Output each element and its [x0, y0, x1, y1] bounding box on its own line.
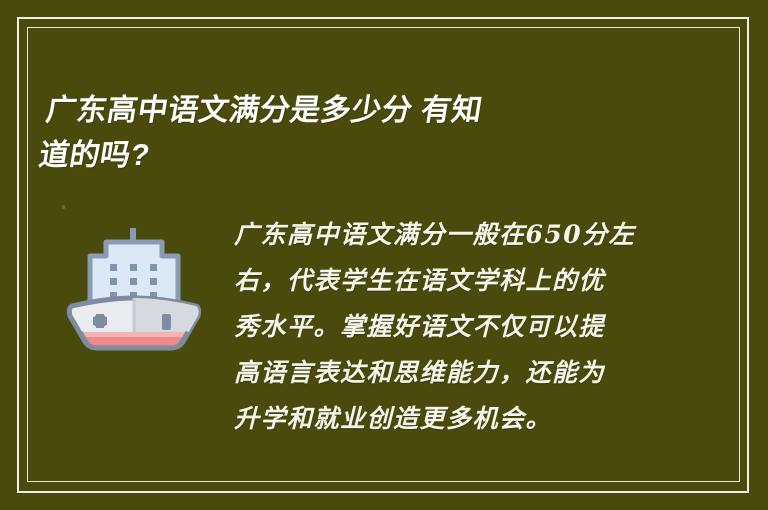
poster-canvas: 广东高中语文满分是多少分 有知 道的吗? — [0, 0, 768, 510]
body-line-4: 高语言表达和思维能力，还能为 — [234, 350, 704, 396]
body-line-1: 广东高中语文满分一般在650分左 — [234, 212, 704, 258]
page-title: 广东高中语文满分是多少分 有知 道的吗? — [36, 88, 690, 178]
body-paragraph: 广东高中语文满分一般在650分左 右，代表学生在语文学科上的优 秀水平。掌握好语… — [234, 212, 704, 442]
cargo-ship-icon — [62, 222, 206, 356]
body-line-2: 右，代表学生在语文学科上的优 — [234, 258, 704, 304]
page-title-line-2: 道的吗? — [36, 133, 683, 178]
body-line-5: 升学和就业创造更多机会。 — [234, 396, 704, 442]
body-line-3: 秀水平。掌握好语文不仅可以提 — [234, 304, 704, 350]
background-speck — [62, 205, 65, 209]
page-title-line-1: 广东高中语文满分是多少分 有知 — [43, 88, 690, 133]
